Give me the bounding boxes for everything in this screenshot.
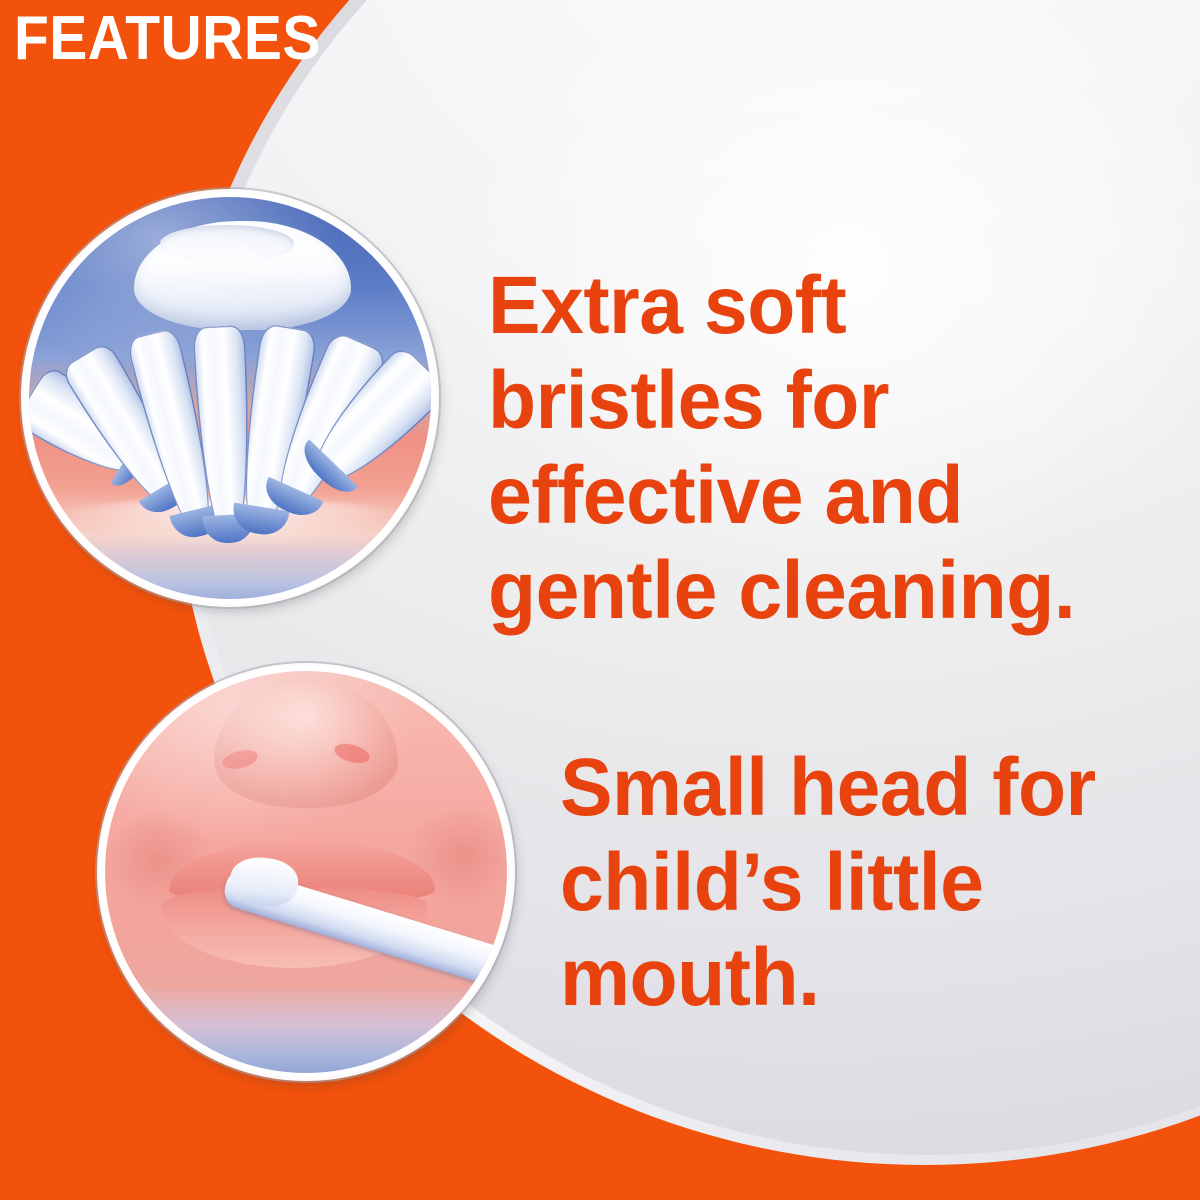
mouth-scene [105, 671, 507, 1073]
brush-head [134, 221, 351, 330]
feature-image-bristles [24, 192, 436, 604]
page-title: FEATURES [14, 8, 321, 70]
feature-caption-mouth: Small head for child’s little mouth. [560, 740, 1136, 1025]
feature-caption-bristles: Extra soft bristles for effective and ge… [488, 258, 1122, 638]
bristles-scene [29, 197, 431, 599]
feature-image-mouth [100, 666, 512, 1078]
nose [214, 679, 399, 808]
mouth-illustration [105, 671, 507, 1073]
features-poster: FEATURES Extra soft bristles for effecti… [0, 0, 1200, 1200]
bristles-illustration [29, 197, 431, 599]
